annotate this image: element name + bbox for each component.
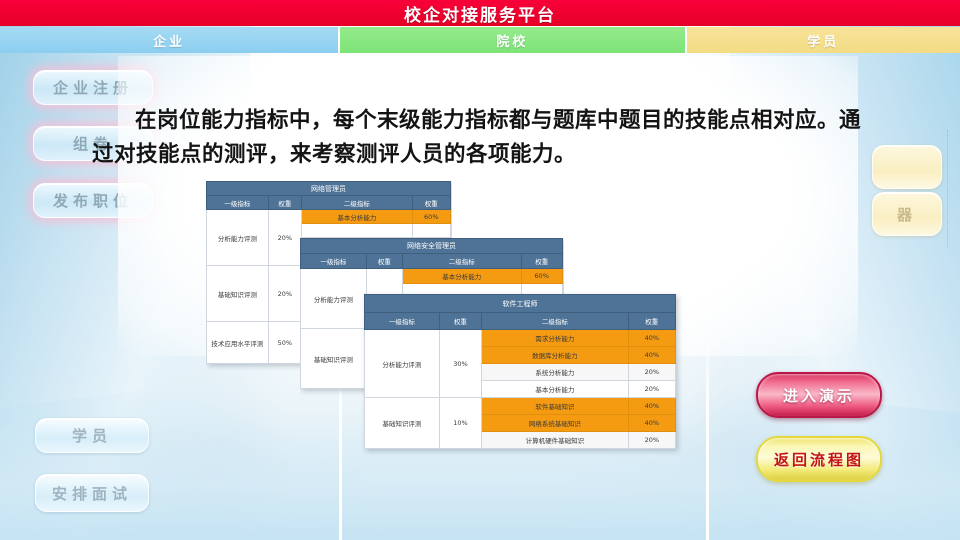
col-weight2: 权重 xyxy=(521,254,562,269)
cell-level2: 数据库分析能力 xyxy=(482,347,628,364)
table-row: 分析能力评测 基本分析能力 60% xyxy=(301,269,563,284)
body-paragraph: 在岗位能力指标中，每个末级能力指标都与题库中题目的技能点相对应。通过对技能点的测… xyxy=(92,104,882,172)
table-row: 分析能力评测 20% 基本分析能力 60% xyxy=(207,210,451,224)
cell-weight2: 20% xyxy=(628,381,675,398)
enter-demo-button[interactable]: 进入演示 xyxy=(756,372,882,418)
sidebar-item-arrange-interview[interactable]: 安排面试 xyxy=(35,474,149,512)
cell-level1: 基础知识评测 xyxy=(365,398,440,449)
cell-level2: 计算机硬件基础知识 xyxy=(482,432,628,449)
cell-weight2: 60% xyxy=(412,210,450,224)
cell-level1: 技术应用水平评测 xyxy=(207,322,269,364)
cell-level2: 基本分析能力 xyxy=(482,381,628,398)
table-row: 分析能力评测 30% 需求分析能力 40% xyxy=(365,330,676,347)
table-row: 基础知识评测 10% 软件基础知识 40% xyxy=(365,398,676,415)
table-caption: 网络管理员 xyxy=(207,182,451,196)
cell-level1: 分析能力评测 xyxy=(207,210,269,266)
col-weight1: 权重 xyxy=(366,254,402,269)
sidebar-item-right-upper[interactable] xyxy=(872,145,942,189)
cell-weight2: 20% xyxy=(628,432,675,449)
title-bar: 校企对接服务平台 xyxy=(0,0,960,26)
cell-level2: 基本分析能力 xyxy=(302,210,412,224)
sidebar-item-publish-position[interactable]: 发布职位 xyxy=(33,183,153,218)
cell-level2: 需求分析能力 xyxy=(482,330,628,347)
cell-level2: 基本分析能力 xyxy=(403,269,522,284)
sidebar-item-right-lower[interactable]: 器 xyxy=(872,192,942,236)
cell-weight1: 20% xyxy=(268,266,302,322)
cell-weight2: 40% xyxy=(628,398,675,415)
tab-institution[interactable]: 院校 xyxy=(340,27,686,53)
cell-level1: 分析能力评测 xyxy=(301,269,367,329)
slide-stage: 校企对接服务平台 企业 院校 学员 企业注册 组卷 发布职位 学员 安排面试 通… xyxy=(0,0,960,540)
sidebar-item-student[interactable]: 学员 xyxy=(35,418,149,453)
nav-tab-bar: 企业 院校 学员 xyxy=(0,27,960,53)
cell-level1: 分析能力评测 xyxy=(365,330,440,398)
col-weight1: 权重 xyxy=(268,196,302,210)
cell-level1: 基础知识评测 xyxy=(301,329,367,389)
return-flowchart-button[interactable]: 返回流程图 xyxy=(756,436,882,482)
page-title: 校企对接服务平台 xyxy=(404,1,556,26)
col-weight1: 权重 xyxy=(439,313,481,330)
sidebar-item-general-position[interactable]: 通用岗位 xyxy=(548,68,668,100)
col-level2: 二级指标 xyxy=(302,196,412,210)
column-divider-right xyxy=(706,330,709,540)
col-level2: 二级指标 xyxy=(482,313,628,330)
col-level1: 一级指标 xyxy=(365,313,440,330)
right-panel-dotted-border xyxy=(947,130,948,248)
col-level1: 一级指标 xyxy=(207,196,269,210)
table-software-engineer: 软件工程师 一级指标 权重 二级指标 权重 分析能力评测 30% 需求分析能力 … xyxy=(364,294,676,449)
cell-level2: 软件基础知识 xyxy=(482,398,628,415)
cell-level2: 网络系统基础知识 xyxy=(482,415,628,432)
cell-level2: 系统分析能力 xyxy=(482,364,628,381)
cell-weight2: 20% xyxy=(628,364,675,381)
col-level1: 一级指标 xyxy=(301,254,367,269)
cell-weight1: 50% xyxy=(268,322,302,364)
col-weight2: 权重 xyxy=(628,313,675,330)
cell-level1: 基础知识评测 xyxy=(207,266,269,322)
cell-level2 xyxy=(302,224,412,238)
cell-weight1: 20% xyxy=(268,210,302,266)
cell-weight2: 60% xyxy=(521,269,562,284)
cell-weight2 xyxy=(412,224,450,238)
table-caption: 网络安全管理员 xyxy=(301,239,563,254)
col-weight2: 权重 xyxy=(412,196,450,210)
cell-weight2: 40% xyxy=(628,415,675,432)
tab-student[interactable]: 学员 xyxy=(687,27,960,53)
table-caption: 软件工程师 xyxy=(365,295,676,313)
cell-weight2: 40% xyxy=(628,347,675,364)
cell-weight2: 40% xyxy=(628,330,675,347)
col-level2: 二级指标 xyxy=(403,254,522,269)
sidebar-item-enterprise-register[interactable]: 企业注册 xyxy=(33,70,153,105)
cell-weight1: 30% xyxy=(439,330,481,398)
cell-weight1: 10% xyxy=(439,398,481,449)
tab-enterprise[interactable]: 企业 xyxy=(0,27,340,53)
